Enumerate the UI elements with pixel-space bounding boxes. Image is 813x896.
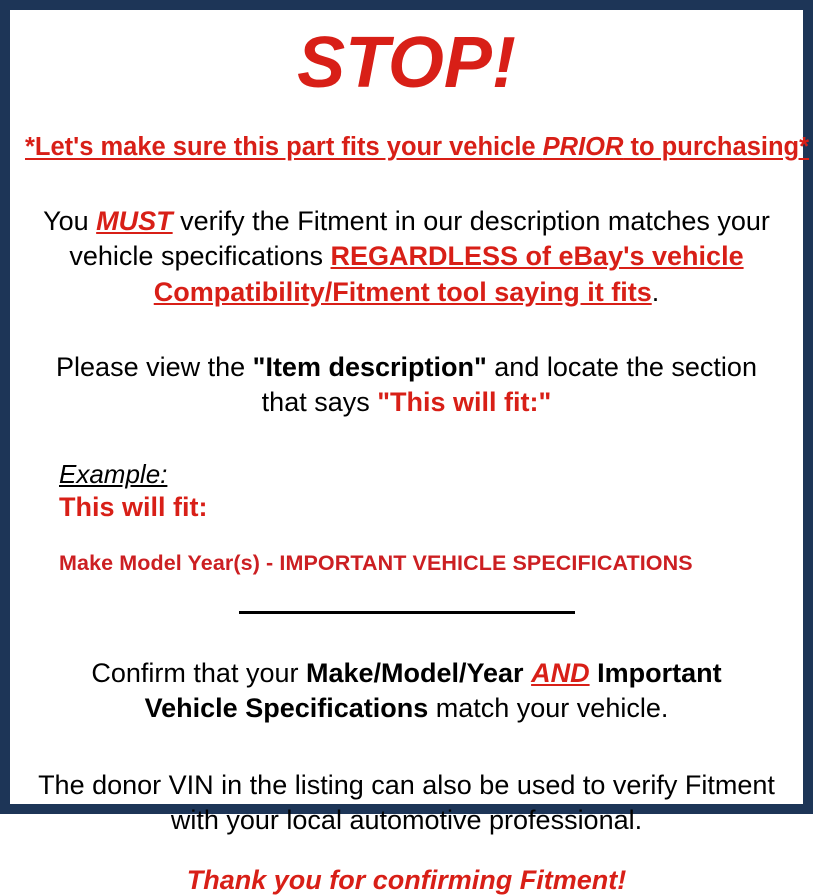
example-label-row: Example:	[59, 460, 788, 490]
horizontal-rule-icon	[239, 611, 575, 614]
paragraph-must-verify: You MUST verify the Fitment in our descr…	[25, 204, 788, 309]
emphasis-this-will-fit: "This will fit:"	[377, 387, 551, 417]
confirm-space-2	[590, 658, 598, 688]
notice-content-area: STOP! *Let's make sure this part fits yo…	[10, 10, 803, 804]
confirm-seg-1: Confirm that your	[91, 658, 306, 688]
divider-wrapper	[25, 604, 788, 622]
must-seg-1: You	[43, 206, 96, 236]
paragraph-donor-vin: The donor VIN in the listing can also be…	[25, 768, 788, 838]
subtitle-warning: *Let's make sure this part fits your veh…	[25, 133, 788, 162]
paragraph-item-description: Please view the "Item description" and l…	[25, 350, 788, 420]
page-title: STOP!	[25, 27, 788, 99]
confirm-space-1	[524, 658, 532, 688]
emphasis-and: AND	[531, 658, 590, 688]
example-label: Example:	[59, 460, 167, 490]
itemdesc-seg-1: Please view the	[56, 352, 253, 382]
confirm-seg-2: match your vehicle.	[428, 693, 668, 723]
example-spec-line: Make Model Year(s) - IMPORTANT VEHICLE S…	[59, 551, 788, 577]
paragraph-confirm: Confirm that your Make/Model/Year AND Im…	[25, 656, 788, 726]
must-seg-3: .	[652, 277, 660, 307]
emphasis-item-description: "Item description"	[253, 352, 487, 382]
example-this-will-fit: This will fit:	[59, 492, 788, 523]
subtitle-emphasis-prior: PRIOR	[543, 133, 624, 161]
example-block: Example: This will fit: Make Model Year(…	[25, 460, 788, 577]
subtitle-text-lead: *Let's make sure this part fits your veh…	[25, 133, 543, 161]
thank-you-message: Thank you for confirming Fitment!	[25, 864, 788, 896]
emphasis-make-model-year: Make/Model/Year	[306, 658, 524, 688]
fitment-notice-panel: STOP! *Let's make sure this part fits yo…	[0, 0, 813, 814]
emphasis-must: MUST	[96, 206, 173, 236]
subtitle-text-tail: to purchasing*	[623, 133, 809, 161]
